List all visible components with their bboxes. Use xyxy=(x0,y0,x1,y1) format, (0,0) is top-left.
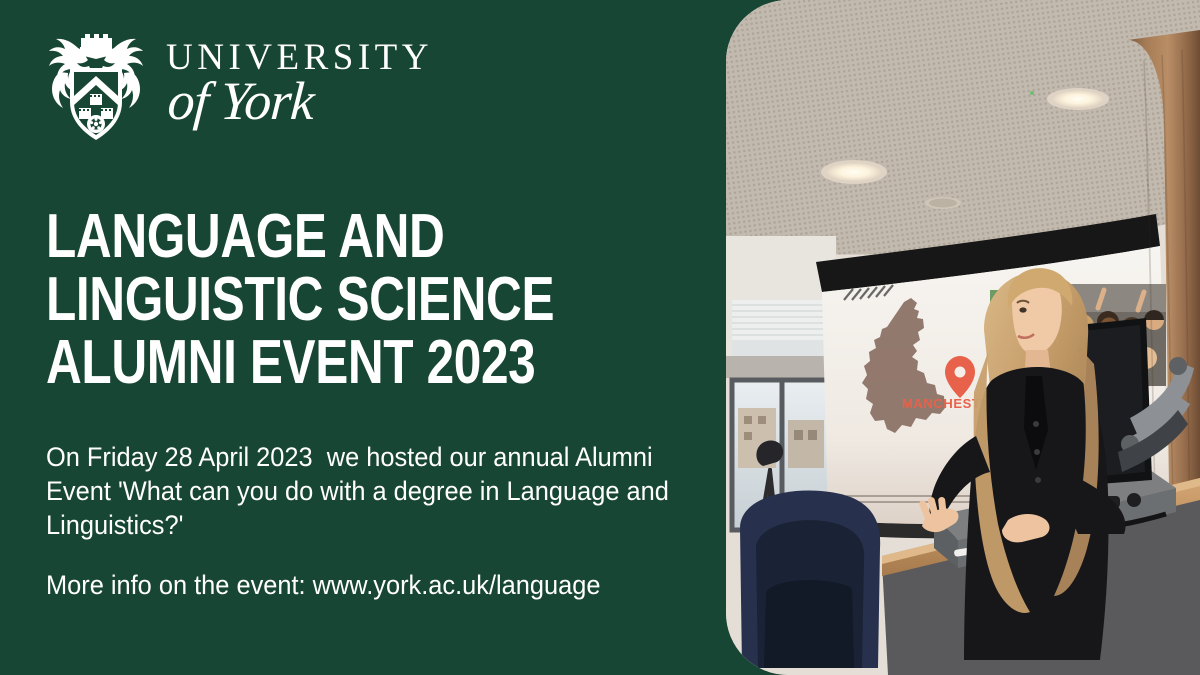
event-photo-illustration: MANCHESTER xyxy=(726,0,1200,675)
page-title: LANGUAGE AND LINGUISTIC SCIENCE ALUMNI E… xyxy=(46,205,706,394)
event-link-paragraph: More info on the event: www.york.ac.uk/l… xyxy=(46,568,676,602)
wordmark-of-york-text: of York xyxy=(166,74,435,128)
poster-canvas: UNIVERSITY of York LANGUAGE AND LINGUIST… xyxy=(0,0,1200,675)
university-logo-lockup: UNIVERSITY of York xyxy=(40,24,433,142)
event-photo: MANCHESTER xyxy=(726,0,1200,675)
event-description-paragraph: On Friday 28 April 2023 we hosted our an… xyxy=(46,440,676,542)
headline-line-1: LANGUAGE AND xyxy=(46,205,574,268)
headline-line-2: LINGUISTIC SCIENCE xyxy=(46,268,574,331)
wordmark-university-text: UNIVERSITY xyxy=(166,39,433,76)
university-of-york-crest-icon xyxy=(40,24,152,142)
university-wordmark: UNIVERSITY of York xyxy=(166,39,433,128)
left-text-panel: UNIVERSITY of York LANGUAGE AND LINGUIST… xyxy=(0,0,740,675)
headline-line-3: ALUMNI EVENT 2023 xyxy=(46,331,574,394)
body-copy: On Friday 28 April 2023 we hosted our an… xyxy=(46,440,716,602)
